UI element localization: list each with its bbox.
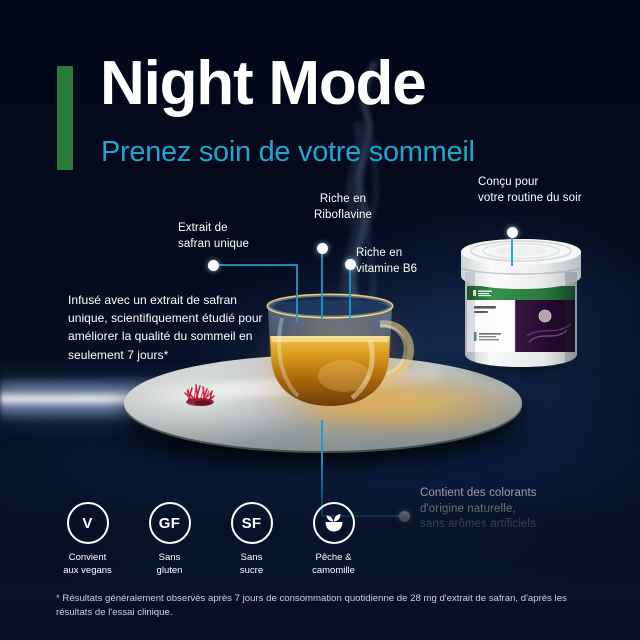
sugar-free-icon: SF: [231, 502, 273, 544]
callout-evening-routine: Conçu pour votre routine du soir: [478, 175, 582, 206]
badge-label-line-1: Sans: [224, 552, 279, 565]
callout-line-2: vitamine B6: [356, 262, 417, 278]
body-paragraph: Infusé avec un extrait de safran unique,…: [68, 291, 268, 364]
callout-dot-vitamin-b6[interactable]: [345, 259, 356, 270]
badge-label-line-1: Sans: [142, 552, 197, 565]
certification-badges: V Convient aux vegans GF Sans gluten SF …: [60, 502, 361, 577]
badge-label-line-2: sucre: [224, 565, 279, 578]
badge-label-line-2: aux vegans: [60, 565, 115, 578]
badge-label-line-2: gluten: [142, 565, 197, 578]
callout-dot-riboflavin[interactable]: [317, 243, 328, 254]
saffron-threads-icon: [176, 372, 228, 406]
badge-sugar-free: SF Sans sucre: [224, 502, 279, 577]
callout-riboflavin: Riche en Riboflavine: [300, 192, 386, 223]
badge-gluten-free: GF Sans gluten: [142, 502, 197, 577]
badge-label: Convient aux vegans: [60, 552, 115, 577]
badge-glyph: V: [82, 515, 92, 532]
badge-vegan: V Convient aux vegans: [60, 502, 115, 577]
callout-line-1: Riche en: [300, 192, 386, 208]
glass-mug-of-tea: [252, 280, 432, 420]
callout-line-2: votre routine du soir: [478, 191, 582, 207]
badge-glyph: GF: [159, 515, 180, 532]
badge-label: Sans sucre: [224, 552, 279, 577]
page-subtitle: Prenez soin de votre sommeil: [101, 136, 475, 169]
badge-label-line-1: Pêche &: [306, 552, 361, 565]
badge-peach-chamomile: Pêche & camomille: [306, 502, 361, 577]
badge-label-line-1: Convient: [60, 552, 115, 565]
badge-label: Sans gluten: [142, 552, 197, 577]
callout-line-1: Extrait de: [178, 221, 249, 237]
badge-label-line-2: camomille: [306, 565, 361, 578]
gluten-free-icon: GF: [149, 502, 191, 544]
callout-vitamin-b6: Riche en vitamine B6: [356, 246, 417, 277]
accent-bar: [57, 66, 73, 170]
herb-bowl-icon: [313, 502, 355, 544]
footnote-disclaimer: * Résultats généralement observés après …: [56, 592, 602, 621]
callout-line-2: Riboflavine: [300, 208, 386, 224]
callout-line-1: Conçu pour: [478, 175, 582, 191]
callout-line-1: Riche en: [356, 246, 417, 262]
callout-dot-evening-routine[interactable]: [507, 227, 518, 238]
product-jar: [459, 238, 583, 368]
page-title: Night Mode: [100, 53, 426, 115]
callout-line-2: safran unique: [178, 237, 249, 253]
callout-saffron-extract: Extrait de safran unique: [178, 221, 249, 252]
vegan-v-icon: V: [67, 502, 109, 544]
callout-dot-saffron-extract[interactable]: [208, 260, 219, 271]
badge-glyph: SF: [242, 515, 262, 532]
badge-label: Pêche & camomille: [306, 552, 361, 577]
product-marketing-graphic: Extrait de safran unique Riche en Ribofl…: [0, 0, 640, 640]
